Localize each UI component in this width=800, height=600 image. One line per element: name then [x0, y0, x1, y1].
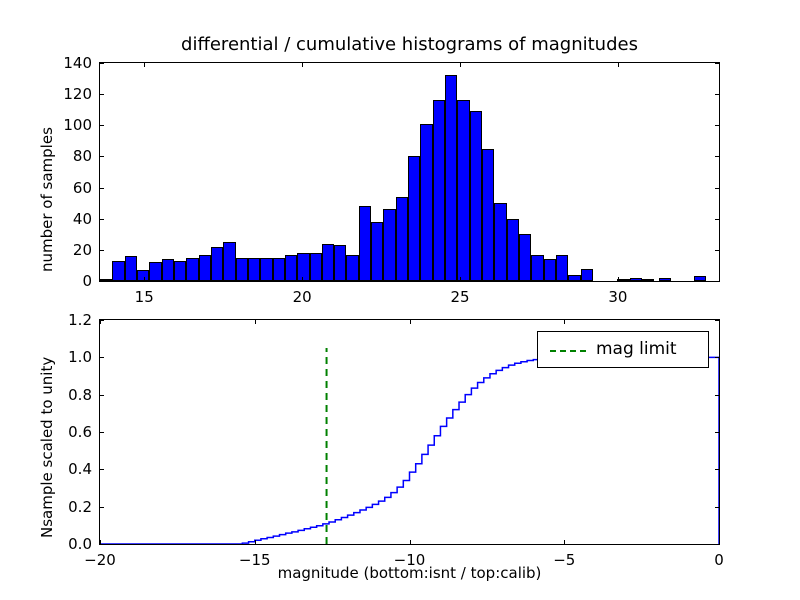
histogram-bar: [383, 209, 395, 281]
histogram-bar: [544, 259, 556, 281]
bottom-panel-ytick: 1.2: [68, 311, 92, 329]
bottom-panel-ytick-mark: [100, 544, 104, 545]
top-panel-xtick-mark: [302, 277, 303, 281]
histogram-bar: [642, 279, 654, 281]
bottom-panel-xtick: −15: [239, 551, 271, 569]
bottom-panel-xtick-mark: [564, 320, 565, 324]
top-panel-ytick-mark: [715, 94, 719, 95]
bottom-panel-xtick: −10: [394, 551, 426, 569]
top-panel-ytick-mark: [715, 188, 719, 189]
histogram-bar: [125, 256, 137, 281]
histogram-bar: [694, 276, 706, 281]
histogram-bar: [581, 269, 593, 281]
top-panel-xtick: 20: [293, 288, 312, 306]
bottom-panel-ytick: 0.6: [68, 423, 92, 441]
top-panel-xtick-mark: [460, 277, 461, 281]
histogram-bar: [420, 124, 432, 281]
top-panel-ytick: 60: [73, 179, 92, 197]
histogram-bar: [297, 253, 309, 281]
histogram-bar: [260, 258, 272, 281]
legend-dashed-line-icon: [550, 350, 586, 352]
histogram-bar: [396, 197, 408, 281]
top-panel-ytick: 100: [63, 116, 92, 134]
top-panel-xtick-mark: [302, 63, 303, 67]
histogram-bar: [112, 261, 124, 281]
top-panel-plot-area: [100, 63, 719, 281]
top-panel-ytick: 40: [73, 210, 92, 228]
bottom-panel-ytick-mark: [100, 507, 104, 508]
histogram-bar: [273, 258, 285, 281]
top-panel-ytick-mark: [100, 156, 104, 157]
top-panel-ytick: 0: [82, 272, 92, 290]
bottom-panel-ytick-mark: [100, 395, 104, 396]
histogram-bar: [408, 156, 420, 281]
histogram-bar: [359, 206, 371, 281]
bottom-panel-ytick: 1.0: [68, 348, 92, 366]
histogram-bar: [568, 275, 580, 281]
bottom-panel-ytick-mark: [715, 432, 719, 433]
histogram-bar: [617, 279, 629, 281]
histogram-bar: [371, 222, 383, 281]
bottom-panel-ytick: 0.2: [68, 498, 92, 516]
figure-canvas: differential / cumulative histograms of …: [0, 0, 800, 600]
cumulative-histogram-line: [100, 357, 719, 544]
histogram-bar: [494, 203, 506, 281]
top-panel-ytick-mark: [100, 188, 104, 189]
histogram-bar: [248, 258, 260, 281]
bottom-panel-ylabel: Nsample scaled to unity: [38, 357, 56, 538]
histogram-bar: [630, 278, 642, 281]
histogram-bar: [470, 111, 482, 281]
bottom-panel-ytick-mark: [715, 544, 719, 545]
bottom-panel-ytick-mark: [100, 469, 104, 470]
bottom-panel-ytick-mark: [100, 357, 104, 358]
histogram-bar: [162, 259, 174, 281]
histogram-bar: [186, 258, 198, 281]
top-panel-axes: [99, 62, 720, 282]
histogram-bar: [433, 100, 445, 281]
top-panel-xtick-mark: [144, 63, 145, 67]
top-panel-ytick: 80: [73, 147, 92, 165]
histogram-bar: [531, 255, 543, 281]
bottom-panel-ytick-mark: [100, 432, 104, 433]
bottom-panel-xtick-mark: [100, 540, 101, 544]
top-panel-ytick-mark: [715, 219, 719, 220]
bottom-panel-xtick-mark: [410, 540, 411, 544]
top-panel-xtick-mark: [460, 63, 461, 67]
histogram-bar: [174, 261, 186, 281]
top-panel-ytick-mark: [100, 281, 104, 282]
top-panel-ytick-mark: [715, 125, 719, 126]
top-panel-xtick-mark: [618, 63, 619, 67]
top-panel-ytick: 140: [63, 54, 92, 72]
histogram-bar: [659, 278, 671, 281]
histogram-bar: [236, 258, 248, 281]
histogram-bar: [149, 262, 161, 281]
bottom-panel-xtick: −20: [84, 551, 116, 569]
bottom-panel-xtick-mark: [564, 540, 565, 544]
top-panel-ytick-mark: [715, 156, 719, 157]
bottom-panel-ytick-mark: [715, 395, 719, 396]
bottom-panel-xtick-mark: [100, 320, 101, 324]
histogram-bar: [223, 242, 235, 281]
top-panel-ytick-mark: [100, 250, 104, 251]
histogram-bar: [346, 255, 358, 281]
legend[interactable]: mag limit: [537, 331, 709, 368]
bottom-panel-ytick: 0.8: [68, 386, 92, 404]
legend-label: mag limit: [596, 332, 677, 367]
histogram-bar: [199, 255, 211, 281]
top-panel-xtick: 30: [608, 288, 627, 306]
histogram-bar: [507, 219, 519, 281]
histogram-bar: [334, 245, 346, 281]
bottom-panel-xtick-mark: [410, 320, 411, 324]
histogram-bar: [445, 75, 457, 281]
bottom-panel-ytick-mark: [715, 507, 719, 508]
top-panel-ytick-mark: [100, 63, 104, 64]
top-panel-xtick: 15: [135, 288, 154, 306]
bottom-panel-xtick-mark: [719, 320, 720, 324]
bottom-panel-xtick: 0: [714, 551, 724, 569]
top-panel-xtick-mark: [144, 277, 145, 281]
top-panel-ytick-mark: [100, 219, 104, 220]
top-panel-ytick-mark: [100, 125, 104, 126]
figure-title: differential / cumulative histograms of …: [99, 34, 720, 55]
bottom-panel-xtick-mark: [255, 320, 256, 324]
histogram-bar: [556, 255, 568, 281]
histogram-bar: [482, 149, 494, 281]
histogram-bar: [285, 255, 297, 281]
top-panel-ylabel: number of samples: [38, 127, 56, 272]
histogram-bar: [457, 100, 469, 281]
bottom-panel-xtick: −5: [553, 551, 575, 569]
histogram-bar: [310, 253, 322, 281]
bottom-panel-ytick: 0.4: [68, 460, 92, 478]
bottom-panel-ytick-mark: [715, 469, 719, 470]
top-panel-ytick-mark: [715, 63, 719, 64]
top-panel-ytick-mark: [715, 250, 719, 251]
bottom-panel-axes: mag limit: [99, 319, 720, 545]
bottom-panel-ytick-mark: [715, 357, 719, 358]
top-panel-ytick-mark: [715, 281, 719, 282]
bottom-panel-xtick-mark: [255, 540, 256, 544]
top-panel-ytick: 20: [73, 241, 92, 259]
histogram-bar: [211, 247, 223, 281]
top-panel-xtick-mark: [618, 277, 619, 281]
top-panel-xtick: 25: [450, 288, 469, 306]
top-panel-ytick: 120: [63, 85, 92, 103]
histogram-bar: [519, 234, 531, 281]
histogram-bar: [322, 244, 334, 281]
bottom-panel-xtick-mark: [719, 540, 720, 544]
top-panel-ytick-mark: [100, 94, 104, 95]
